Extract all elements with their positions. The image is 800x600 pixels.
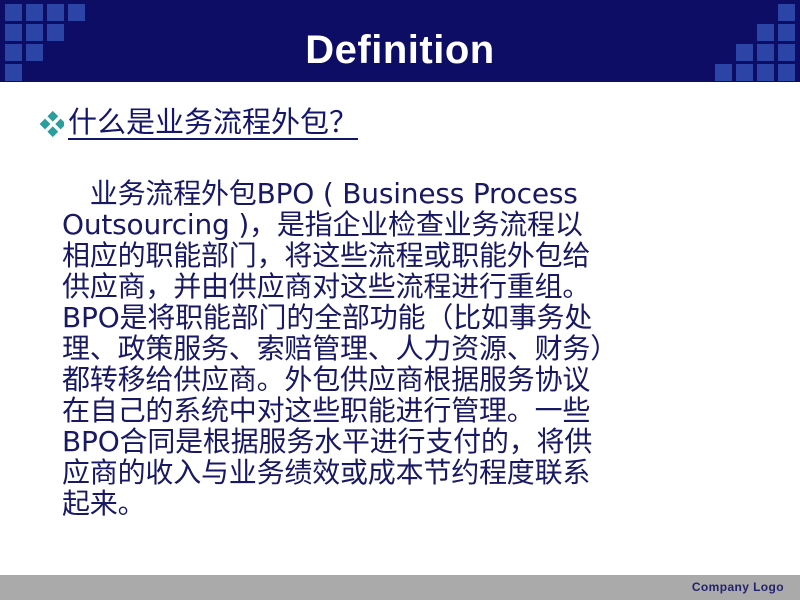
slide-body: 什么是业务流程外包？ 业务流程外包BPO ( Business Process …	[0, 82, 800, 575]
body-line: 在自己的系统中对这些职能进行管理。一些	[62, 395, 672, 426]
page-title: Definition	[0, 26, 800, 74]
section-heading: 什么是业务流程外包？	[38, 104, 372, 140]
body-line: BPO合同是根据服务水平进行支付的，将供	[62, 426, 672, 457]
body-line: 应商的收入与业务绩效或成本节约程度联系	[62, 457, 672, 488]
body-line: 供应商，并由供应商对这些流程进行重组。	[62, 271, 672, 302]
body-line: BPO是将职能部门的全部功能（比如事务处	[62, 302, 672, 333]
mosaic-square	[68, 4, 85, 21]
body-line: 理、政策服务、索赔管理、人力资源、财务）	[62, 333, 672, 364]
body-line: 起来。	[62, 488, 672, 519]
slide: Definition 什么是业务流程外包？ 业务流程外包BPO ( Busine…	[0, 0, 800, 600]
body-paragraph: 业务流程外包BPO ( Business Process Outsourcing…	[62, 178, 672, 519]
mosaic-square	[26, 4, 43, 21]
footer-band	[0, 575, 800, 600]
mosaic-square	[778, 4, 795, 21]
company-logo: Company Logo	[692, 578, 784, 596]
body-line: 都转移给供应商。外包供应商根据服务协议	[62, 364, 672, 395]
body-line: 相应的职能部门，将这些流程或职能外包给	[62, 240, 672, 271]
body-line: 业务流程外包BPO ( Business Process	[62, 178, 672, 209]
mosaic-square	[47, 4, 64, 21]
diamond-cluster-bullet-icon	[38, 111, 64, 137]
mosaic-square	[5, 4, 22, 21]
section-heading-text: 什么是业务流程外包？	[68, 104, 372, 140]
body-line: Outsourcing )，是指企业检查业务流程以	[62, 209, 672, 240]
